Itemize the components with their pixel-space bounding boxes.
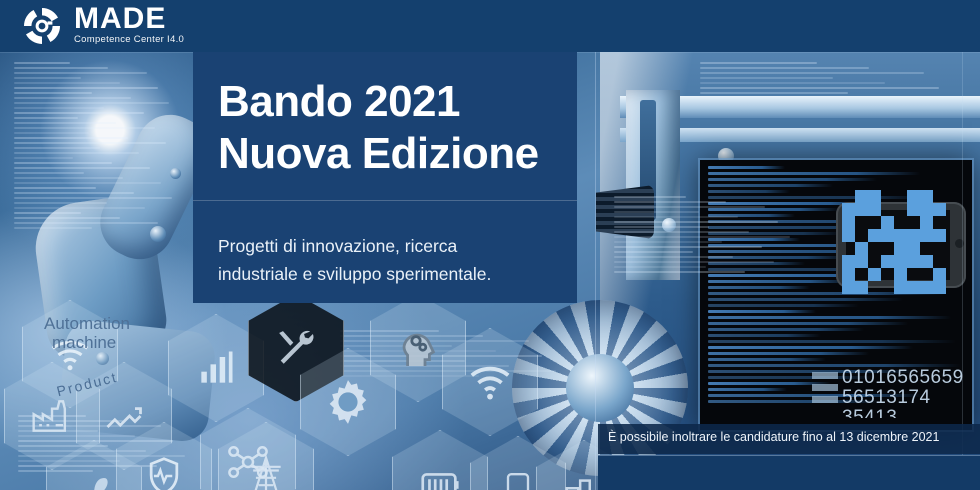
title-line-2: Nuova Edizione	[218, 128, 568, 180]
data-bars-icon	[812, 372, 838, 408]
title-line-1: Bando 2021	[218, 76, 568, 128]
machine-bellows	[596, 185, 654, 239]
made-logo-icon	[16, 2, 68, 50]
subtitle-line-2: industriale e sviluppo sperimentale.	[218, 260, 568, 288]
brand-tagline: Competence Center I4.0	[74, 34, 184, 46]
subtitle-line-1: Progetti di innovazione, ricerca	[218, 232, 568, 260]
readout-line: 01016565659	[842, 368, 980, 388]
deadline-text: È possibile inoltrare le candidature fin…	[608, 430, 939, 444]
brand-wordmark: MADE Competence Center I4.0	[74, 4, 184, 46]
page-subtitle: Progetti di innovazione, ricerca industr…	[218, 232, 568, 288]
deadline-bar: È possibile inoltrare le candidature fin…	[598, 424, 980, 454]
machine-screw	[662, 218, 676, 232]
numeric-readout: 01016565659 56513174 35413	[842, 368, 980, 418]
readout-line: 35413	[842, 408, 980, 418]
brand-name: MADE	[74, 4, 184, 34]
qr-code-graphic	[842, 190, 954, 298]
guide-line-vertical	[962, 0, 963, 490]
footer-strip	[598, 455, 980, 490]
machine-label: machine	[52, 333, 116, 353]
robot-arm-bolt	[170, 168, 181, 179]
guide-line-vertical	[595, 0, 596, 490]
page-title: Bando 2021 Nuova Edizione	[218, 76, 568, 180]
footer-divider	[598, 455, 980, 456]
brand-header-bar: MADE Competence Center I4.0	[0, 0, 980, 52]
panel-divider	[193, 200, 577, 201]
readout-line: 56513174	[842, 388, 980, 408]
automation-label: Automation	[44, 314, 130, 334]
promo-banner: 01016565659 56513174 35413	[0, 0, 980, 490]
robot-arm-bolt	[150, 226, 166, 242]
